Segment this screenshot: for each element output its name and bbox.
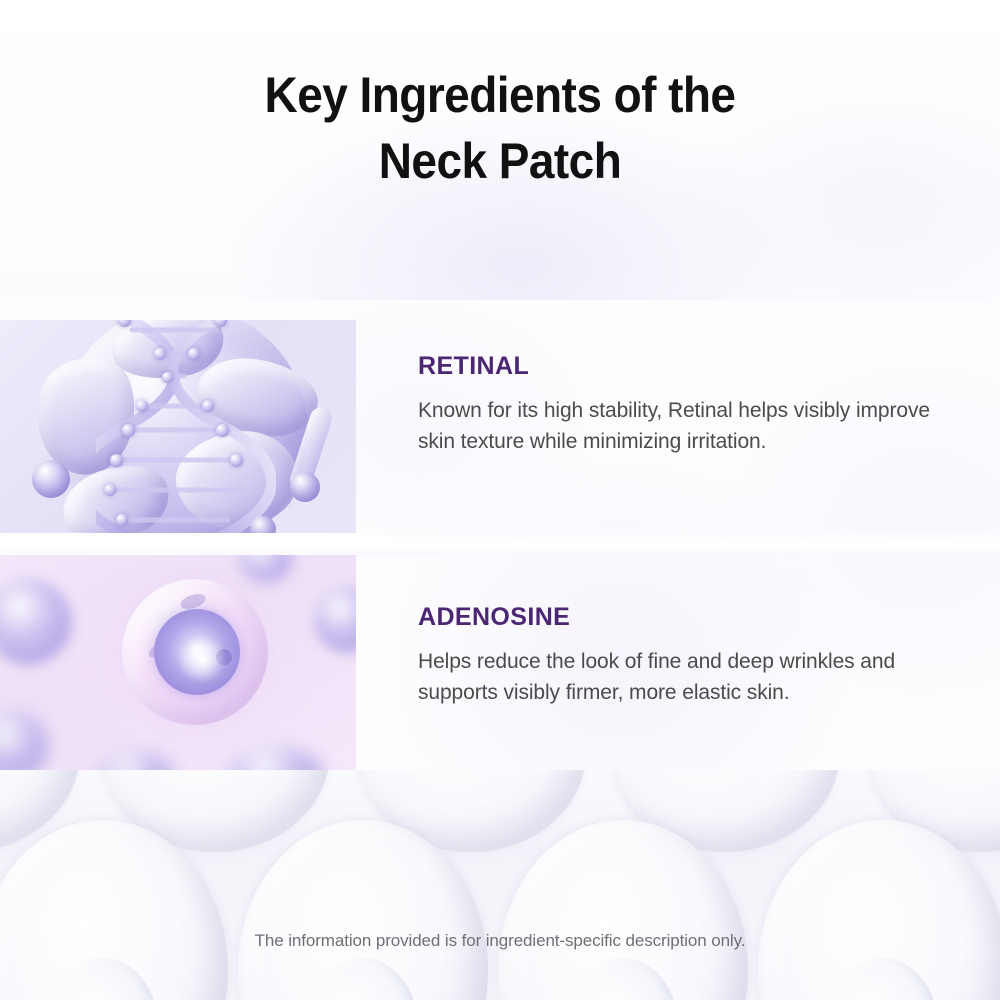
ingredient-name-adenosine: ADENOSINE <box>418 603 958 632</box>
ingredient-image-retinal <box>0 320 356 533</box>
ingredient-infographic-page: Key Ingredients of the Neck Patch <box>0 0 1000 1000</box>
dna-sphere <box>290 472 320 502</box>
dna-bead <box>216 424 229 437</box>
cell-light-flare <box>174 631 230 687</box>
ingredient-description-adenosine: Helps reduce the look of fine and deep w… <box>418 646 958 708</box>
blister-dome-highlight <box>568 958 678 1000</box>
dna-bead <box>136 400 148 412</box>
page-title-line-2: Neck Patch <box>40 128 960 194</box>
page-title: Key Ingredients of the Neck Patch <box>40 62 960 194</box>
ingredient-name-retinal: RETINAL <box>418 352 938 381</box>
dna-helix-icon <box>96 320 276 533</box>
ingredient-block-retinal: RETINAL Known for its high stability, Re… <box>418 352 938 457</box>
cell-outer-membrane <box>122 579 268 725</box>
dna-bead <box>110 454 123 467</box>
disclaimer-text: The information provided is for ingredie… <box>0 931 1000 951</box>
dna-bead <box>202 400 214 412</box>
dna-bead <box>188 348 200 360</box>
dna-bead <box>122 424 135 437</box>
blister-dome-highlight <box>48 958 158 1000</box>
page-title-line-1: Key Ingredients of the <box>40 62 960 128</box>
ingredient-image-adenosine <box>0 555 356 770</box>
ingredient-description-retinal: Known for its high stability, Retinal he… <box>418 395 938 457</box>
dna-bead <box>104 484 116 496</box>
blister-dome-highlight <box>308 958 418 1000</box>
blister-pack-image <box>0 770 1000 1000</box>
dna-bead <box>162 372 173 383</box>
dna-sphere <box>32 460 70 498</box>
dna-bead <box>154 348 166 360</box>
dna-bead <box>116 514 128 526</box>
ingredient-block-adenosine: ADENOSINE Helps reduce the look of fine … <box>418 603 958 708</box>
dna-bead <box>230 454 243 467</box>
blister-dome-highlight <box>828 958 938 1000</box>
